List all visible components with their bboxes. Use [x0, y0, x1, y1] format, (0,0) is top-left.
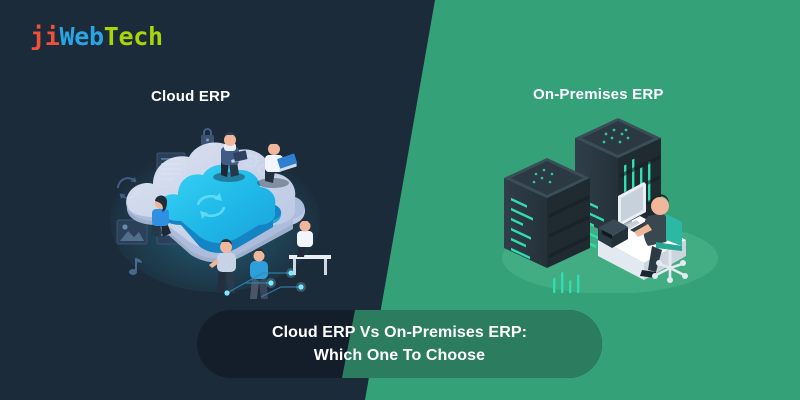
poster-canvas: jiWebTech Cloud ERP On-Premises ERP: [0, 0, 800, 400]
cloud-illustration: [95, 125, 335, 300]
left-panel-heading: Cloud ERP: [151, 88, 230, 105]
right-panel-heading: On-Premises ERP: [533, 86, 664, 103]
logo-tech: Tech: [104, 22, 163, 51]
logo-web: Web: [60, 22, 104, 51]
server-illustration: [490, 118, 725, 293]
logo-ji: ji: [30, 22, 60, 51]
title-banner: Cloud ERP Vs On-Premises ERP: Which One …: [197, 310, 602, 378]
title-line-1: Cloud ERP Vs On-Premises ERP:: [272, 321, 527, 344]
cloud-illustration-svg: [95, 125, 335, 300]
image-icon: [117, 220, 147, 244]
title-line-2: Which One To Choose: [314, 344, 485, 367]
brand-logo[interactable]: jiWebTech: [30, 22, 163, 51]
title-banner-text: Cloud ERP Vs On-Premises ERP: Which One …: [197, 310, 602, 378]
server-illustration-svg: [490, 118, 725, 293]
